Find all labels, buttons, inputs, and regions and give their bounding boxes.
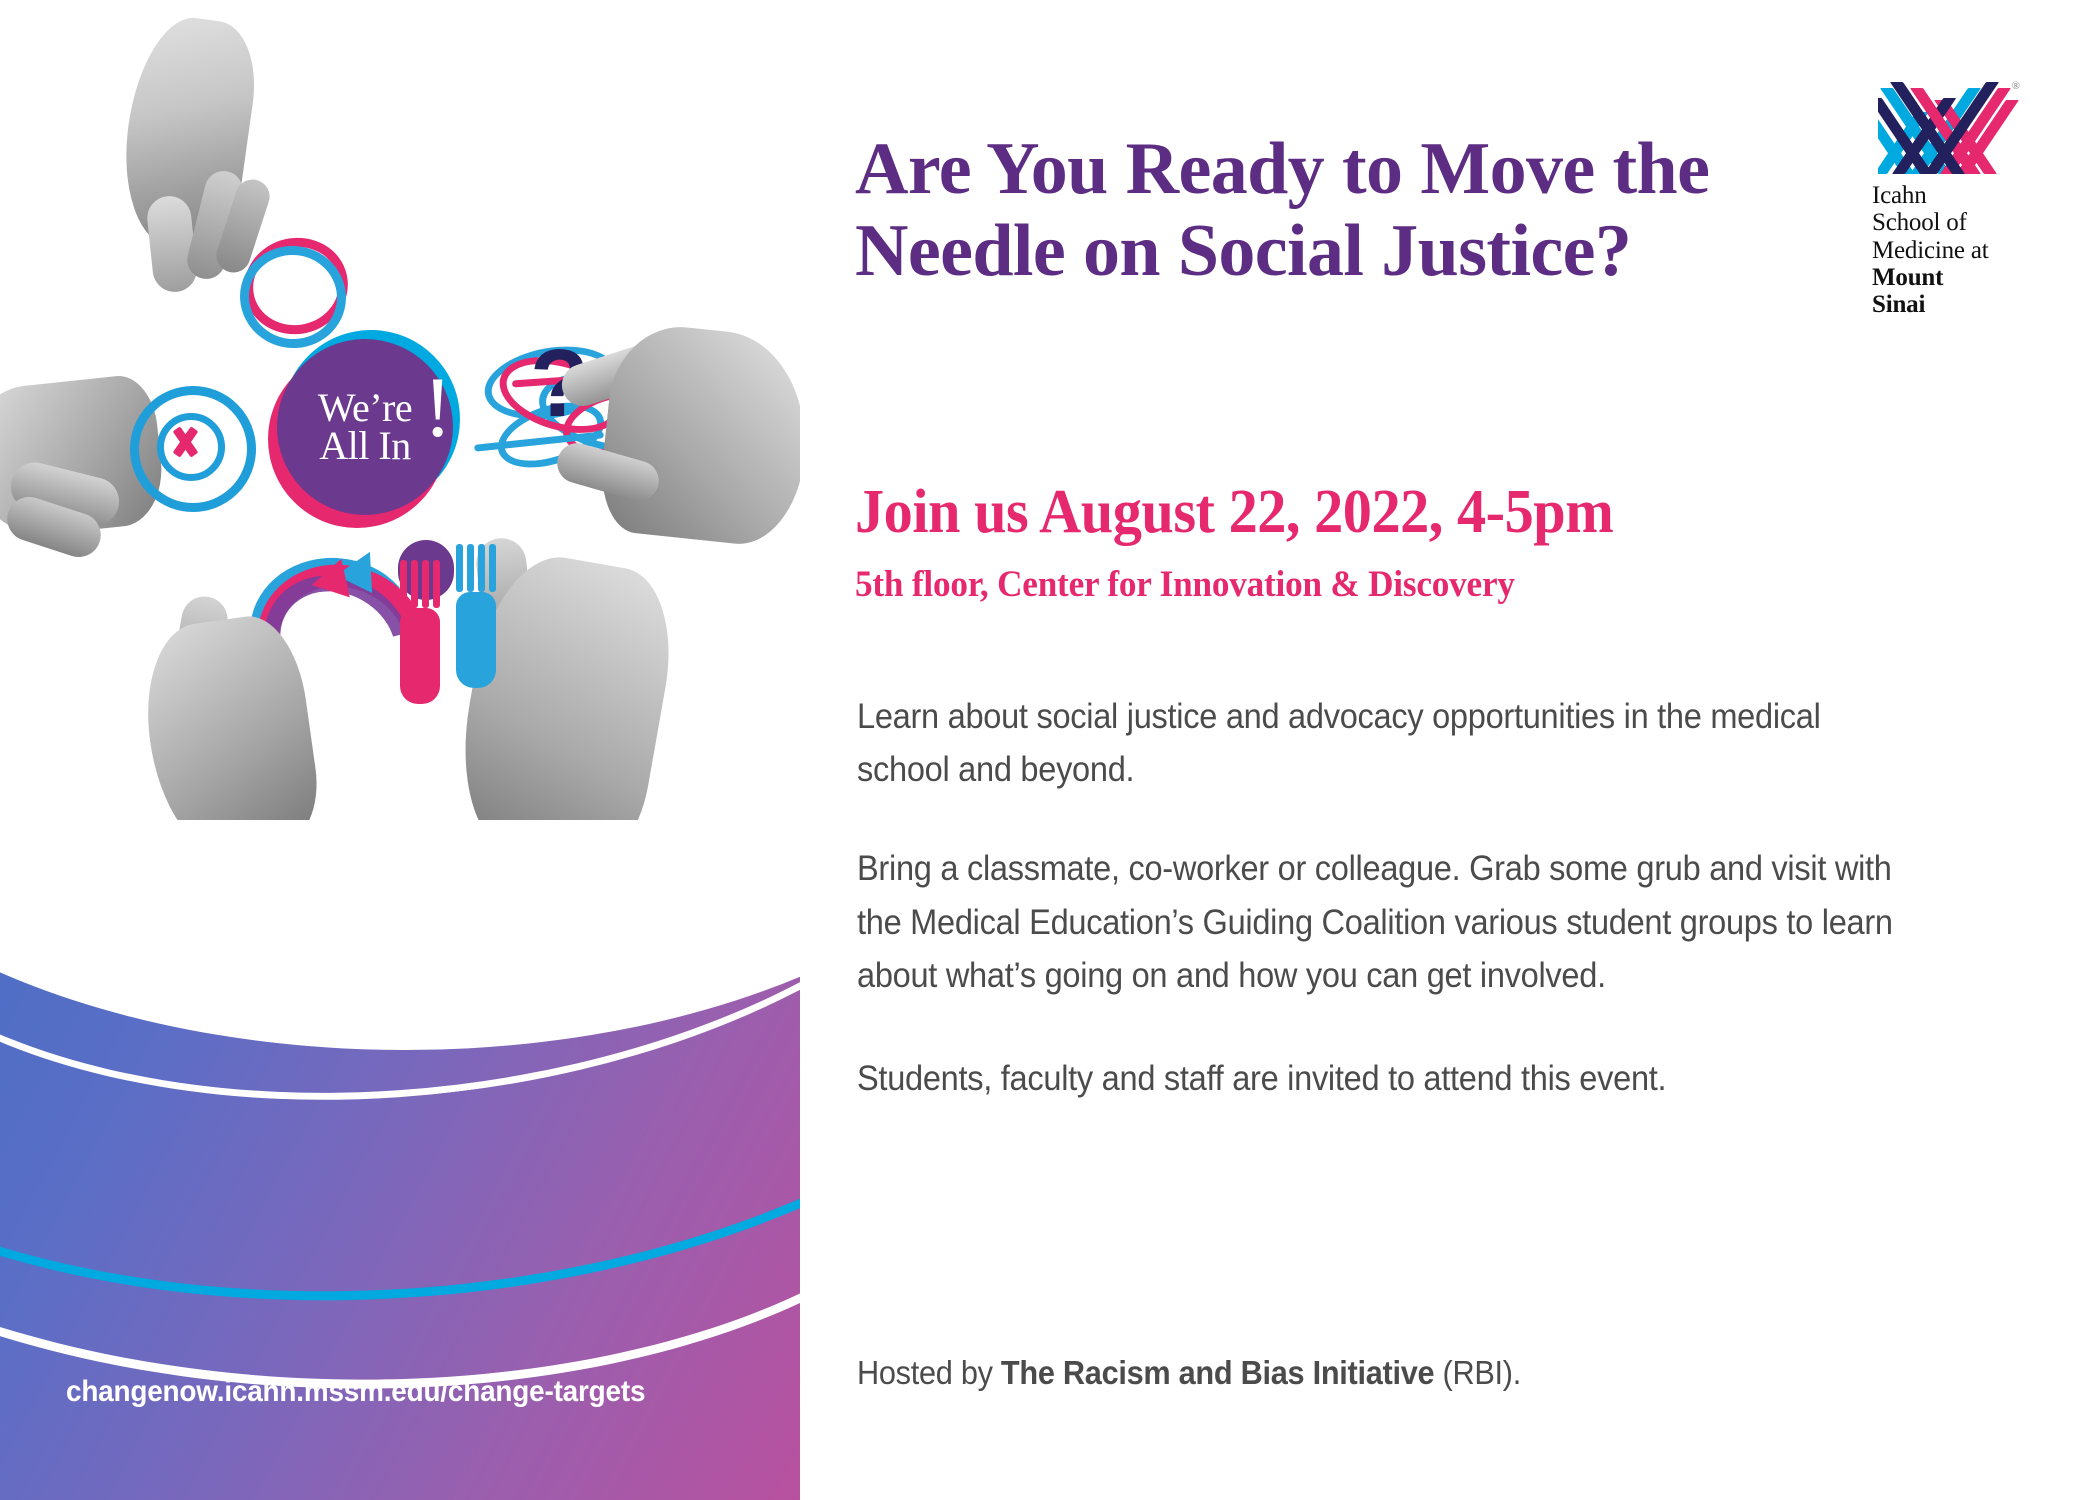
logo-line-3: Medicine at — [1872, 237, 2052, 264]
badge-line-2: All In — [319, 427, 410, 465]
fork-cyan-center — [456, 544, 496, 688]
bullseye-icon — [130, 386, 238, 494]
website-url[interactable]: changenow.icahn.mssm.edu/change-targets — [66, 1375, 645, 1409]
paragraph-1: Learn about social justice and advocacy … — [857, 690, 1908, 796]
arc-white-lower — [0, 820, 800, 1412]
hosted-by-line: Hosted by The Racism and Bias Initiative… — [857, 1350, 1908, 1396]
fork-pink-left — [400, 560, 440, 704]
badge-line-1: We’re — [318, 389, 412, 427]
logo-line-5: Sinai — [1872, 291, 2052, 318]
mount-sinai-peaks-icon: ® — [1878, 78, 2028, 174]
registered-mark: ® — [2012, 80, 2020, 92]
mount-sinai-logo: ® Icahn School of Medicine at Mount Sina… — [1872, 78, 2052, 328]
logo-line-2: School of — [1872, 209, 2052, 236]
logo-wordmark: Icahn School of Medicine at Mount Sinai — [1872, 182, 2052, 318]
poster-root: We’re All In ! ? — [0, 0, 2100, 1500]
hosted-organization: The Racism and Bias Initiative — [1001, 1354, 1434, 1391]
were-all-in-badge: We’re All In ! — [268, 330, 468, 530]
body-copy: Learn about social justice and advocacy … — [857, 690, 1987, 1151]
badge-exclamation: ! — [423, 364, 452, 450]
event-location: 5th floor, Center for Innovation & Disco… — [855, 565, 1862, 606]
page-title: Are You Ready to Move the Needle on Soci… — [855, 128, 1755, 294]
logo-line-1: Icahn — [1872, 182, 2052, 209]
hand-right — [596, 320, 800, 550]
hosted-suffix: (RBI). — [1434, 1354, 1521, 1391]
hosted-prefix: Hosted by — [857, 1354, 1001, 1391]
logo-line-4: Mount — [1872, 264, 2052, 291]
left-visual-panel: We’re All In ! ? — [0, 0, 800, 1500]
bullseye-x-mark — [170, 428, 200, 456]
hands-collage: We’re All In ! ? — [0, 0, 800, 900]
event-datetime: Join us August 22, 2022, 4-5pm — [855, 480, 1851, 545]
paragraph-3: Students, faculty and staff are invited … — [857, 1052, 1908, 1105]
paragraph-2: Bring a classmate, co-worker or colleagu… — [857, 842, 1908, 1002]
